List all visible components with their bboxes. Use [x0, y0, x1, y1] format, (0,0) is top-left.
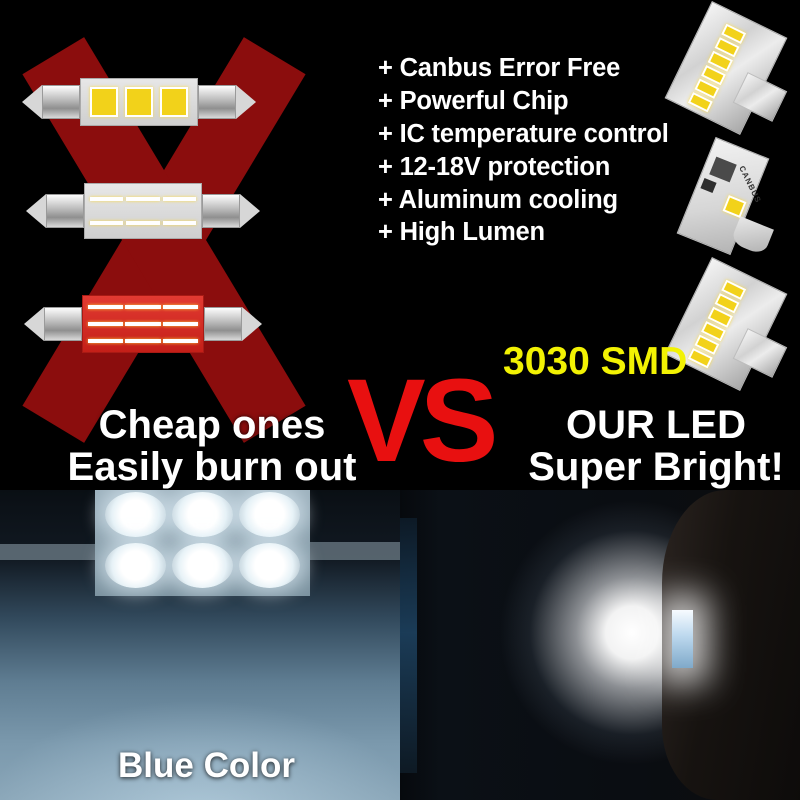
right-headline-line1: OUR LED	[512, 405, 800, 447]
bulb-end-cap-left	[46, 194, 84, 228]
led-chip	[88, 322, 123, 326]
lit-led-dot	[172, 543, 233, 588]
left-headline-line2: Easily burn out	[62, 447, 362, 489]
bulb-led-board	[82, 295, 204, 353]
lit-led-dot	[239, 492, 300, 537]
bulb-tip-right	[242, 307, 262, 341]
cheap-festoon-bulb-2	[26, 183, 260, 239]
left-headline-line1: Cheap ones	[62, 405, 362, 447]
led-chip	[90, 221, 123, 225]
feature-item: + 12-18V protection	[378, 151, 698, 184]
right-headline: OUR LED Super Bright!	[512, 405, 800, 488]
led-chip	[125, 87, 153, 117]
led-chip	[88, 339, 123, 343]
product-comparison-image: + Canbus Error Free + Powerful Chip + IC…	[0, 0, 800, 800]
led-chip	[90, 87, 118, 117]
lit-festoon-bulb	[95, 490, 310, 596]
lit-led-dot	[239, 543, 300, 588]
led-chip	[125, 339, 160, 343]
blue-color-photo: Blue Color	[0, 490, 400, 800]
bulb-end-cap-left	[44, 307, 82, 341]
lit-led-dot	[172, 492, 233, 537]
mount-rod-right	[295, 542, 400, 560]
vs-label: VS	[347, 362, 492, 480]
bulb-tip-left	[22, 85, 42, 119]
bulb-end-cap-right	[204, 307, 242, 341]
cheap-festoon-bulb-3	[24, 295, 262, 353]
feature-item: + IC temperature control	[378, 118, 698, 151]
led-chip	[163, 305, 198, 309]
bulb-tip-right	[236, 85, 256, 119]
our-festoon-bulb-2	[676, 264, 794, 386]
left-headline: Cheap ones Easily burn out	[62, 405, 362, 488]
led-chip	[163, 197, 196, 201]
led-chip	[160, 87, 188, 117]
led-chip	[126, 221, 159, 225]
our-t10-canbus-bulb: CANBUS	[688, 140, 800, 258]
led-chip	[163, 339, 198, 343]
bottom-photo-panel: Blue Color Pure White	[0, 490, 800, 800]
smd-type-label: 3030 SMD	[503, 340, 687, 384]
led-chip	[163, 322, 198, 326]
lit-led-dot	[105, 543, 166, 588]
lit-white-bulb	[672, 610, 693, 668]
background-edge-strip	[400, 518, 417, 773]
our-festoon-bulb-1	[676, 8, 794, 130]
led-chip	[125, 322, 160, 326]
feature-item: + Powerful Chip	[378, 85, 698, 118]
feature-item: + Aluminum cooling	[378, 184, 698, 217]
bulb-end-cap-right	[202, 194, 240, 228]
feature-item: + High Lumen	[378, 216, 698, 249]
bulb-end-cap-left	[42, 85, 80, 119]
right-headline-line2: Super Bright!	[512, 447, 800, 489]
mount-rod-left	[0, 544, 100, 560]
bulb-led-board	[80, 78, 198, 126]
led-chip	[90, 197, 123, 201]
pure-white-photo: Pure White	[400, 490, 800, 800]
led-chip	[126, 197, 159, 201]
led-chip	[88, 305, 123, 309]
feature-list: + Canbus Error Free + Powerful Chip + IC…	[378, 52, 698, 249]
cheap-festoon-bulb-1	[22, 78, 256, 126]
bulb-end-cap-right	[198, 85, 236, 119]
led-chip	[125, 305, 160, 309]
feature-item: + Canbus Error Free	[378, 52, 698, 85]
blue-color-caption: Blue Color	[118, 746, 295, 786]
bulb-led-board	[84, 183, 202, 239]
top-comparison-panel: + Canbus Error Free + Powerful Chip + IC…	[0, 0, 800, 490]
bulb-tip-left	[24, 307, 44, 341]
bulb-tip-left	[26, 194, 46, 228]
lit-led-dot	[105, 492, 166, 537]
bulb-tip-right	[240, 194, 260, 228]
led-chip	[163, 221, 196, 225]
